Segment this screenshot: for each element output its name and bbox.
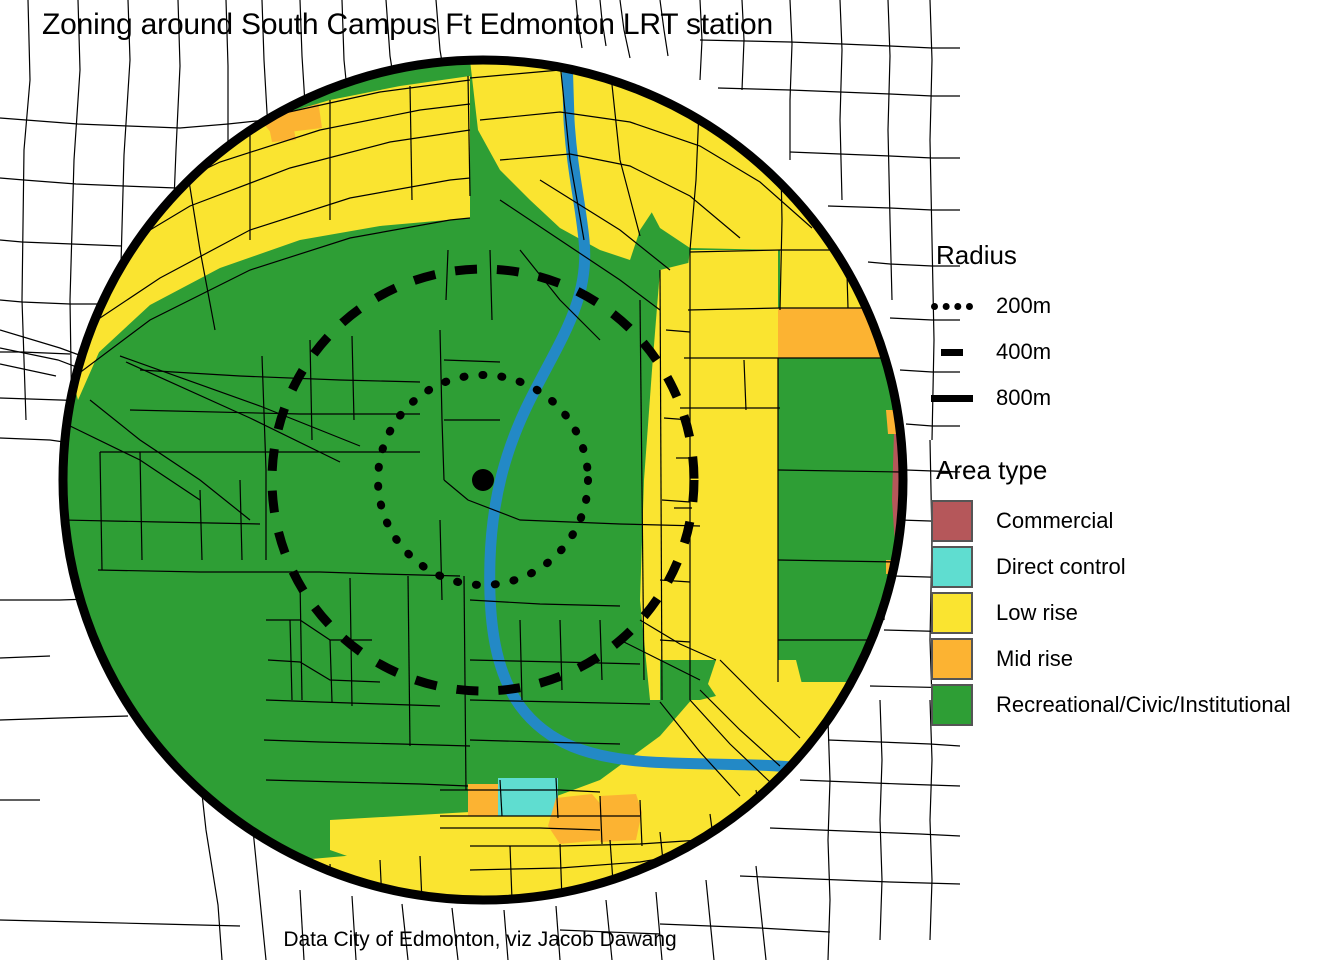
area-key-recreational-icon bbox=[930, 683, 974, 727]
area-key-direct-control-icon bbox=[930, 545, 974, 589]
station-center-dot[interactable] bbox=[472, 469, 494, 491]
radius-key-200m-icon bbox=[930, 284, 974, 328]
legend-label-area-commercial: Commercial bbox=[996, 508, 1113, 534]
legend-title-area-type: Area type bbox=[936, 455, 1330, 486]
area-low-rise-south-2 bbox=[330, 812, 470, 864]
radius-key-400m-icon bbox=[930, 330, 974, 374]
legend-item-area-recreational[interactable]: Recreational/Civic/Institutional bbox=[930, 682, 1330, 728]
map-legend: Radius 200m 400m 800m Area type Commerci bbox=[930, 240, 1330, 728]
radius-key-800m-icon bbox=[930, 376, 974, 420]
legend-label-radius-200m: 200m bbox=[996, 293, 1051, 319]
area-key-mid-rise-icon bbox=[930, 637, 974, 681]
legend-label-area-recreational: Recreational/Civic/Institutional bbox=[996, 692, 1291, 718]
legend-item-area-direct-control[interactable]: Direct control bbox=[930, 544, 1330, 590]
legend-label-area-direct-control: Direct control bbox=[996, 554, 1126, 580]
legend-item-area-commercial[interactable]: Commercial bbox=[930, 498, 1330, 544]
legend-title-radius: Radius bbox=[936, 240, 1330, 271]
legend-item-radius-200m[interactable]: 200m bbox=[930, 283, 1330, 329]
legend-item-radius-400m[interactable]: 400m bbox=[930, 329, 1330, 375]
area-key-commercial-icon bbox=[930, 499, 974, 543]
legend-label-area-mid-rise: Mid rise bbox=[996, 646, 1073, 672]
area-low-rise-se-patch bbox=[708, 660, 806, 702]
legend-item-radius-800m[interactable]: 800m bbox=[930, 375, 1330, 421]
legend-item-area-low-rise[interactable]: Low rise bbox=[930, 590, 1330, 636]
area-recreational-east-block bbox=[778, 358, 904, 680]
map-caption: Data City of Edmonton, viz Jacob Dawang bbox=[0, 928, 960, 952]
legend-item-area-mid-rise[interactable]: Mid rise bbox=[930, 636, 1330, 682]
zoning-map[interactable] bbox=[0, 0, 960, 960]
area-direct-control-south bbox=[498, 778, 558, 816]
map-page: Zoning around South Campus Ft Edmonton L… bbox=[0, 0, 1344, 960]
legend-label-area-low-rise: Low rise bbox=[996, 600, 1078, 626]
legend-label-radius-400m: 400m bbox=[996, 339, 1051, 365]
legend-label-radius-800m: 800m bbox=[996, 385, 1051, 411]
area-mid-rise-east-sliver-3 bbox=[876, 640, 902, 676]
area-mid-rise-south-mid2 bbox=[600, 794, 642, 842]
area-mid-rise-south-left bbox=[468, 784, 498, 816]
area-mid-rise-south-mid bbox=[548, 794, 604, 844]
area-key-low-rise-icon bbox=[930, 591, 974, 635]
